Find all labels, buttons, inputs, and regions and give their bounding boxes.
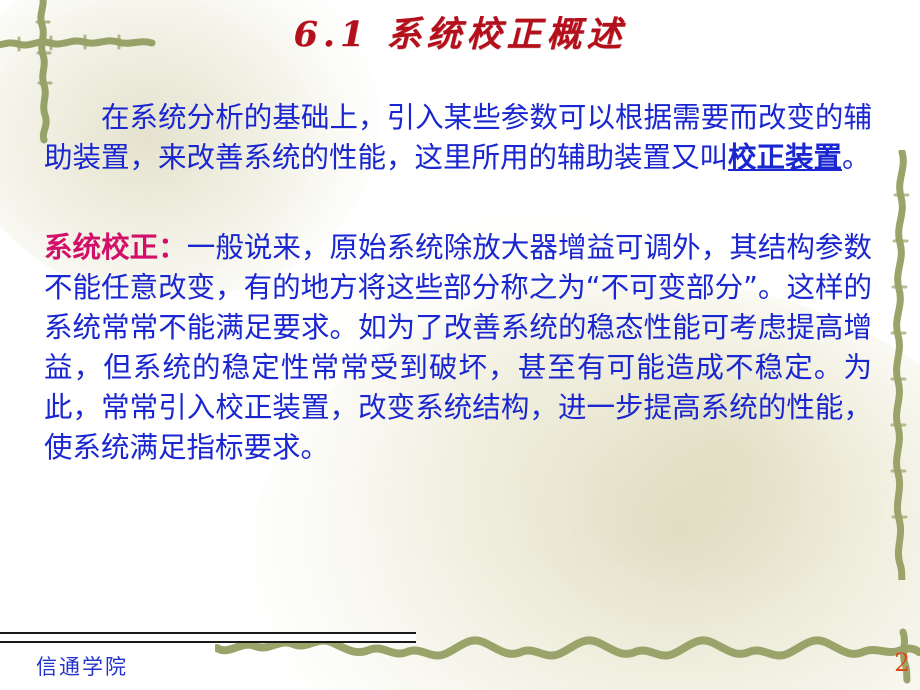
page-number: 2 xyxy=(894,648,910,677)
label-system-correction: 系统校正： xyxy=(44,231,187,264)
footer-divider-rule xyxy=(0,632,416,643)
term-correction-device: 校正装置 xyxy=(728,141,842,174)
paragraph-definition-text-b: 。 xyxy=(842,141,871,174)
bamboo-stalk-icon xyxy=(878,150,920,580)
paragraph-system-correction-text: 一般说来，原始系统除放大器增益可调外，其结构参数不能任意改变，有的地方将这些部分… xyxy=(44,231,872,464)
footer-organization: 信通学院 xyxy=(36,651,128,681)
presentation-slide: 6.1 系统校正概述 在系统分析的基础上，引入某些参数可以根据需要而改变的辅助装… xyxy=(0,0,920,690)
slide-body: 在系统分析的基础上，引入某些参数可以根据需要而改变的辅助装置，来改善系统的性能，… xyxy=(44,98,872,468)
paragraph-definition: 在系统分析的基础上，引入某些参数可以根据需要而改变的辅助装置，来改善系统的性能，… xyxy=(44,98,872,178)
paragraph-system-correction: 系统校正：一般说来，原始系统除放大器增益可调外，其结构参数不能任意改变，有的地方… xyxy=(44,228,872,468)
slide-title: 6.1 系统校正概述 xyxy=(0,6,920,57)
